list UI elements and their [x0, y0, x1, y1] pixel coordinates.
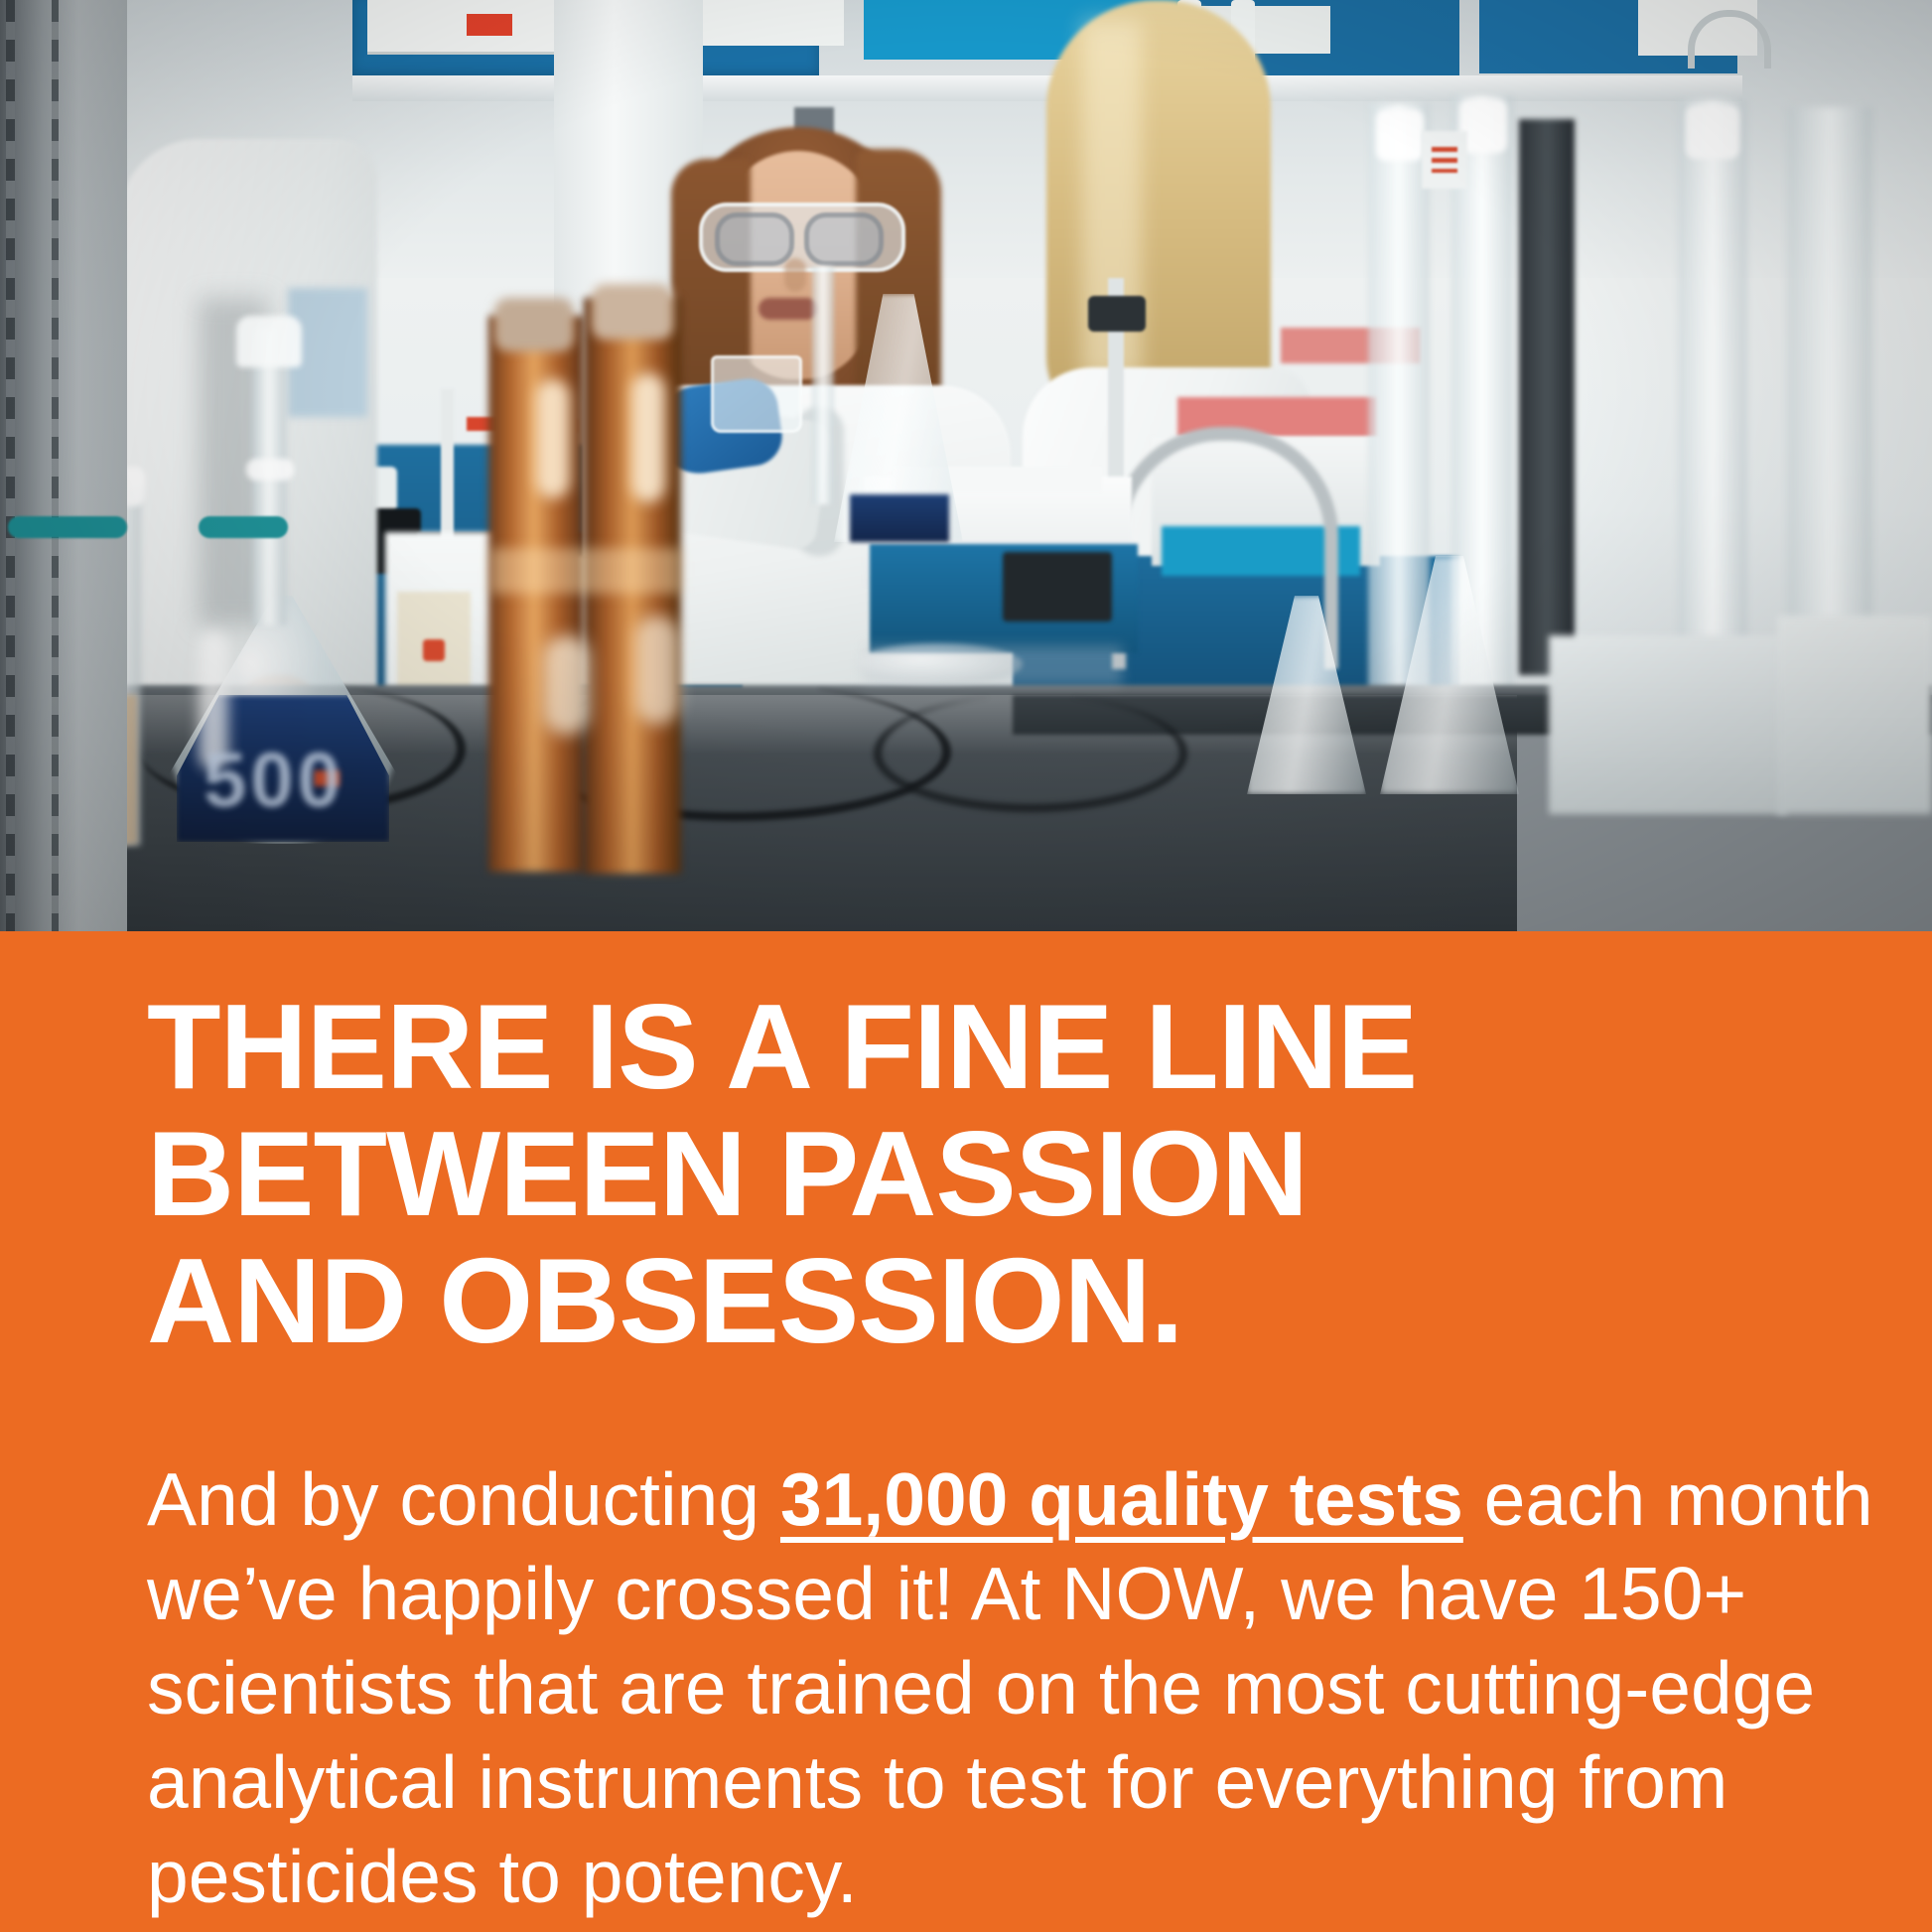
- headline-line-3: AND OBSESSION.: [147, 1237, 1835, 1364]
- quality-tests-emphasis: 31,000 quality tests: [780, 1457, 1463, 1541]
- body-copy-intro: And by conducting: [147, 1457, 780, 1541]
- headline-line-2: BETWEEN PASSION: [147, 1110, 1835, 1237]
- poster-canvas: 500 THERE IS A FINE LINE BETWEEN PASSION…: [0, 0, 1932, 1932]
- page-title: THERE IS A FINE LINE BETWEEN PASSION AND…: [147, 983, 1835, 1364]
- body-copy: And by conducting 31,000 quality tests e…: [147, 1452, 1874, 1924]
- photo-vignette: [0, 0, 1932, 931]
- lab-photograph: 500: [0, 0, 1932, 931]
- headline-line-1: THERE IS A FINE LINE: [147, 983, 1835, 1110]
